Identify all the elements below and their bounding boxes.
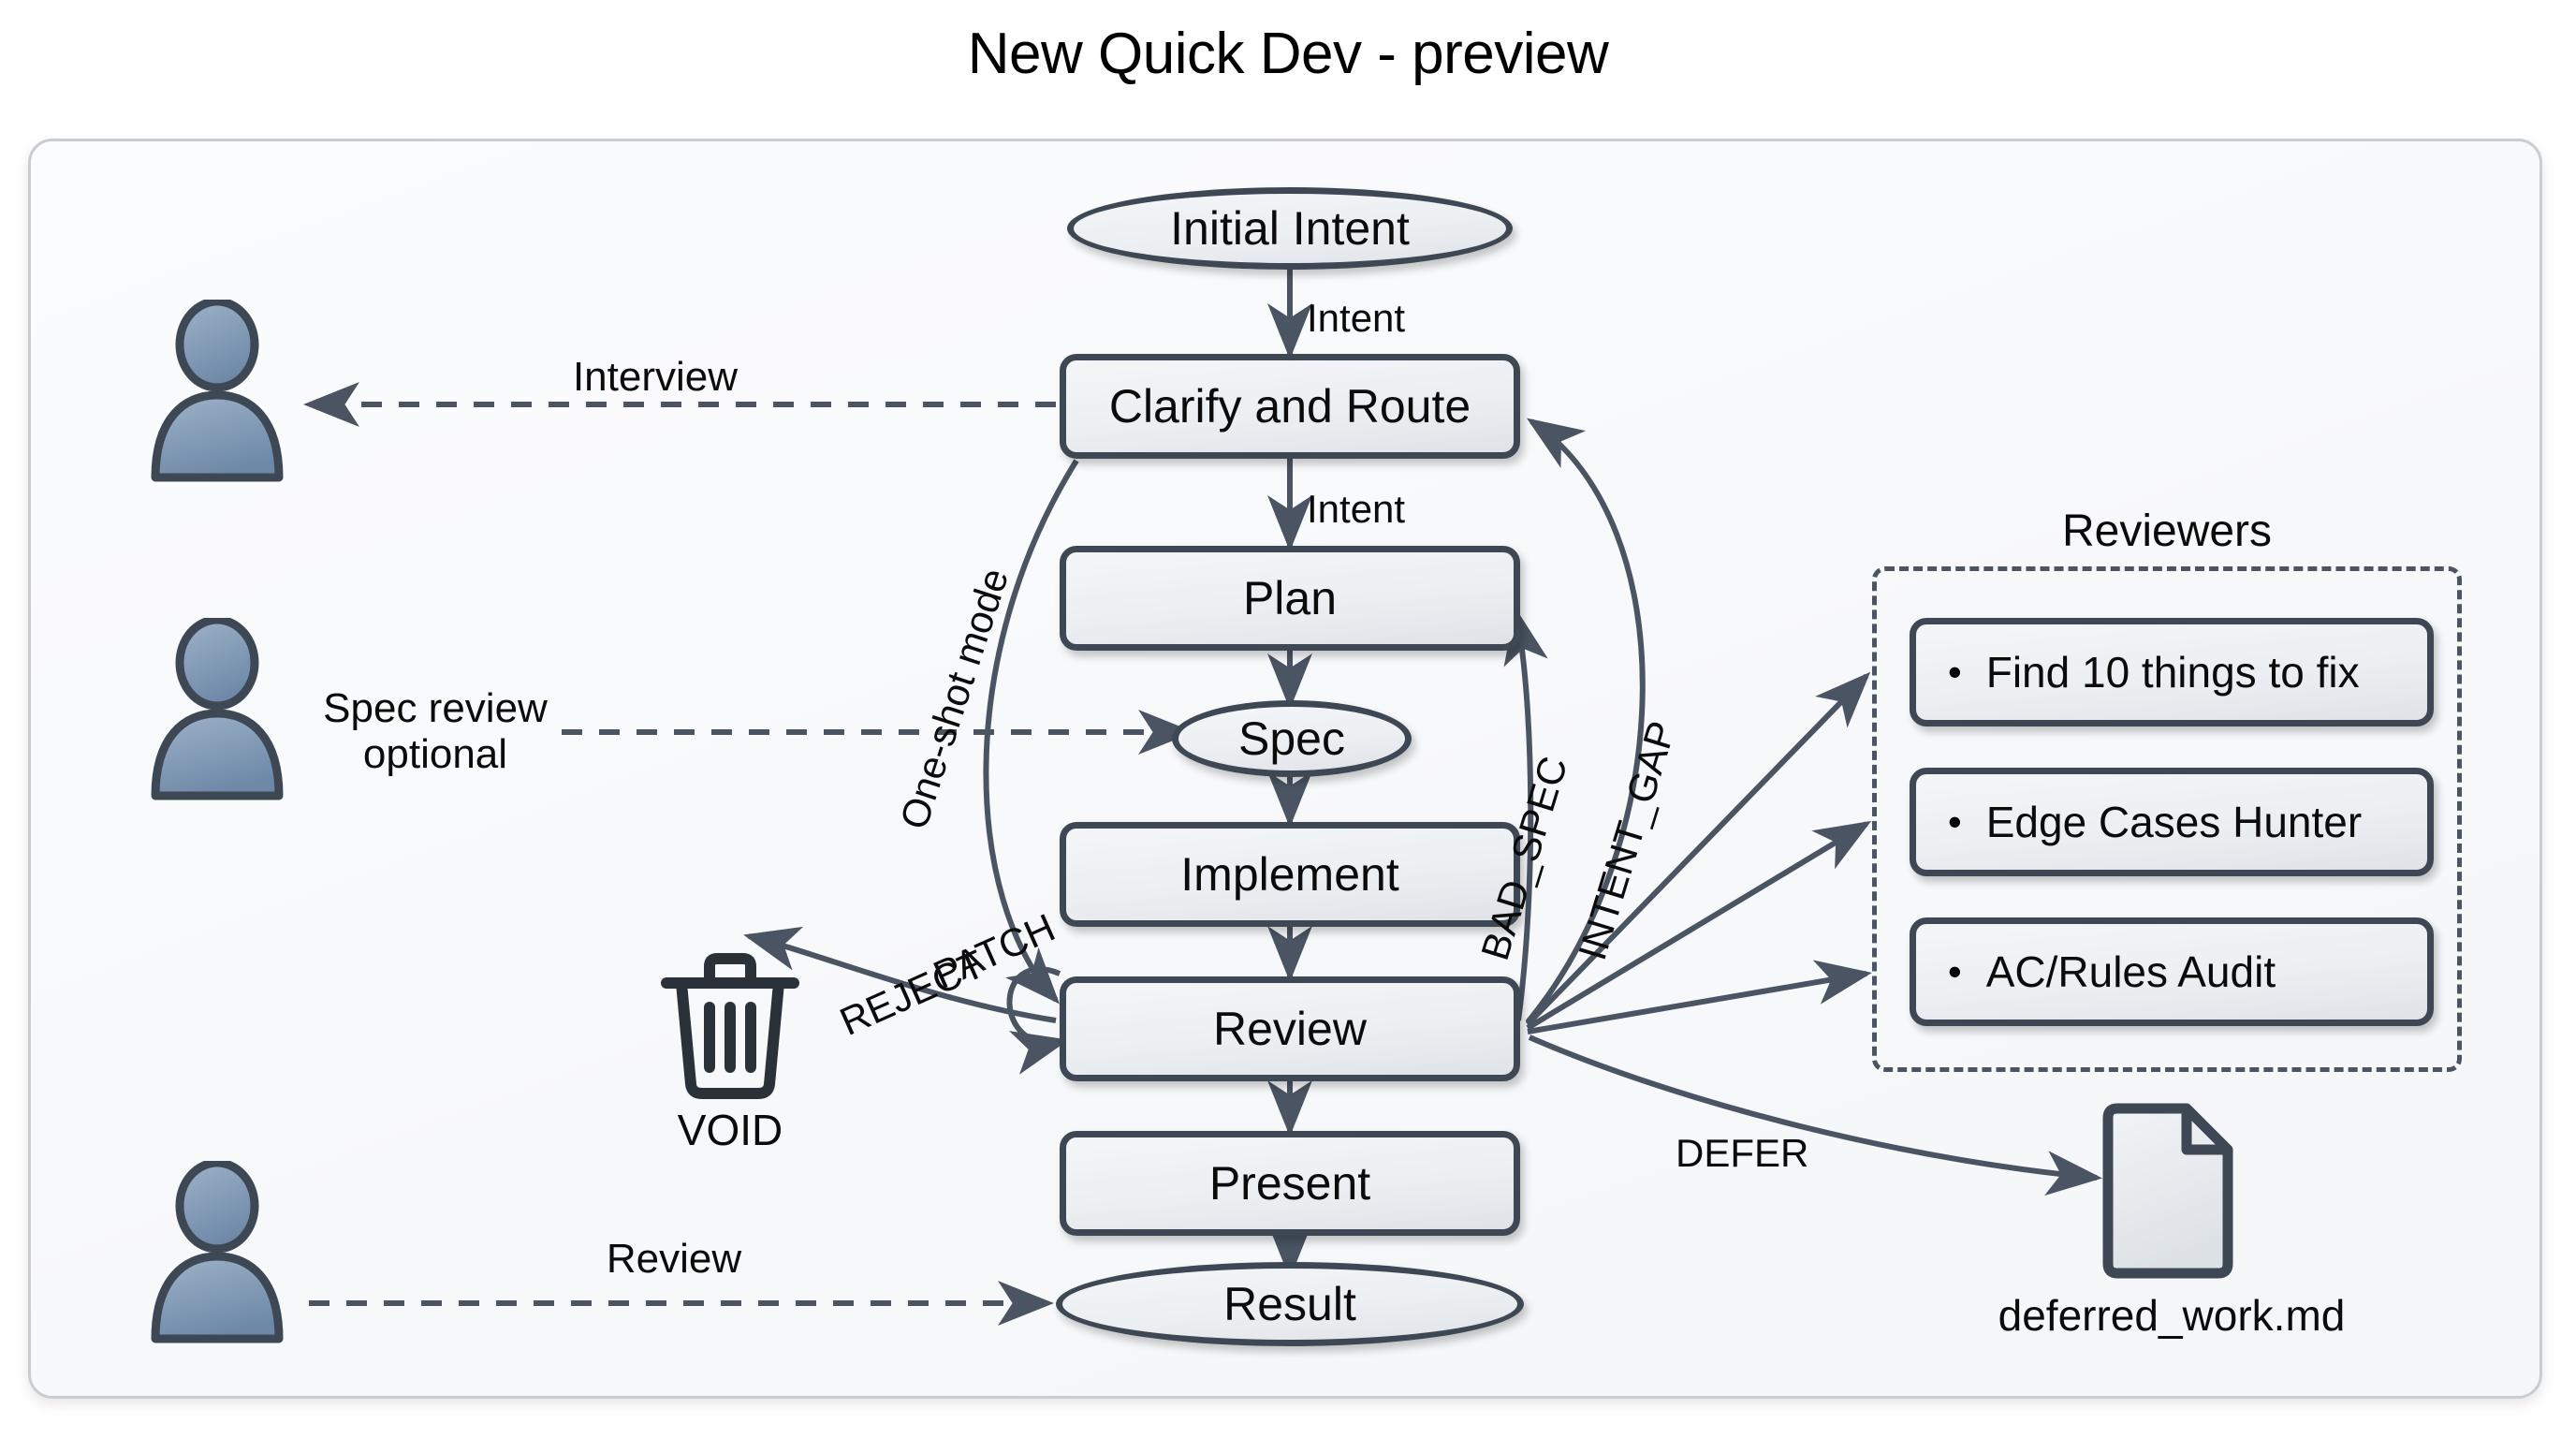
diagram-root: New Quick Dev - preview	[0, 0, 2576, 1438]
reviewer-item-ac-rules-audit[interactable]: • AC/Rules Audit	[1910, 917, 2434, 1026]
reviewer-item-label: AC/Rules Audit	[1986, 946, 2276, 997]
edge-label-intent-1: Intent	[1307, 296, 1405, 341]
flow-node-label: Implement	[1180, 847, 1398, 902]
flow-node-present[interactable]: Present	[1060, 1131, 1520, 1236]
flow-node-label: Spec	[1238, 712, 1345, 766]
flow-node-clarify-and-route[interactable]: Clarify and Route	[1060, 354, 1520, 459]
bullet-icon: •	[1948, 952, 1962, 991]
bullet-icon: •	[1948, 653, 1962, 692]
bullet-icon: •	[1948, 802, 1962, 842]
flow-node-plan[interactable]: Plan	[1060, 546, 1520, 651]
actor-caption-interview: Interview	[487, 354, 824, 400]
flow-node-label: Clarify and Route	[1109, 379, 1471, 433]
flow-node-initial-intent[interactable]: Initial Intent	[1067, 187, 1513, 270]
actor-review-avatar	[140, 1161, 295, 1343]
flow-node-label: Review	[1213, 1002, 1367, 1056]
reviewer-item-find-10-things-to-fix[interactable]: • Find 10 things to fix	[1910, 618, 2434, 726]
actor-caption-spec-review: Spec review optional	[300, 685, 571, 778]
edge-label-intent-2: Intent	[1307, 487, 1405, 532]
actor-spec-review-avatar	[140, 618, 295, 800]
user-icon	[140, 618, 295, 800]
trash-icon	[655, 947, 805, 1102]
reviewer-item-edge-cases-hunter[interactable]: • Edge Cases Hunter	[1910, 768, 2434, 876]
flow-node-implement[interactable]: Implement	[1060, 822, 1520, 927]
flow-node-label: Result	[1223, 1277, 1356, 1331]
actor-interview-avatar	[140, 300, 295, 482]
flow-node-label: Present	[1209, 1156, 1370, 1211]
actor-caption-review: Review	[524, 1236, 824, 1282]
deferred-work-label: deferred_work.md	[1891, 1290, 2452, 1341]
flow-node-label: Initial Intent	[1170, 201, 1410, 256]
flow-node-review[interactable]: Review	[1060, 976, 1520, 1081]
deferred-work-artifact[interactable]	[2097, 1103, 2237, 1285]
void-artifact[interactable]	[655, 947, 805, 1107]
void-artifact-label: VOID	[618, 1105, 842, 1155]
flow-node-spec[interactable]: Spec	[1172, 700, 1412, 777]
reviewer-item-label: Find 10 things to fix	[1986, 647, 2360, 697]
page-title: New Quick Dev - preview	[0, 21, 2576, 87]
flow-node-label: Plan	[1243, 571, 1337, 625]
edge-label-defer: DEFER	[1676, 1131, 1808, 1176]
reviewer-item-label: Edge Cases Hunter	[1986, 797, 2362, 847]
user-icon	[140, 1161, 295, 1343]
reviewers-group-title: Reviewers	[1872, 506, 2462, 557]
document-icon	[2097, 1103, 2237, 1281]
flow-node-result[interactable]: Result	[1056, 1262, 1524, 1346]
user-icon	[140, 300, 295, 482]
